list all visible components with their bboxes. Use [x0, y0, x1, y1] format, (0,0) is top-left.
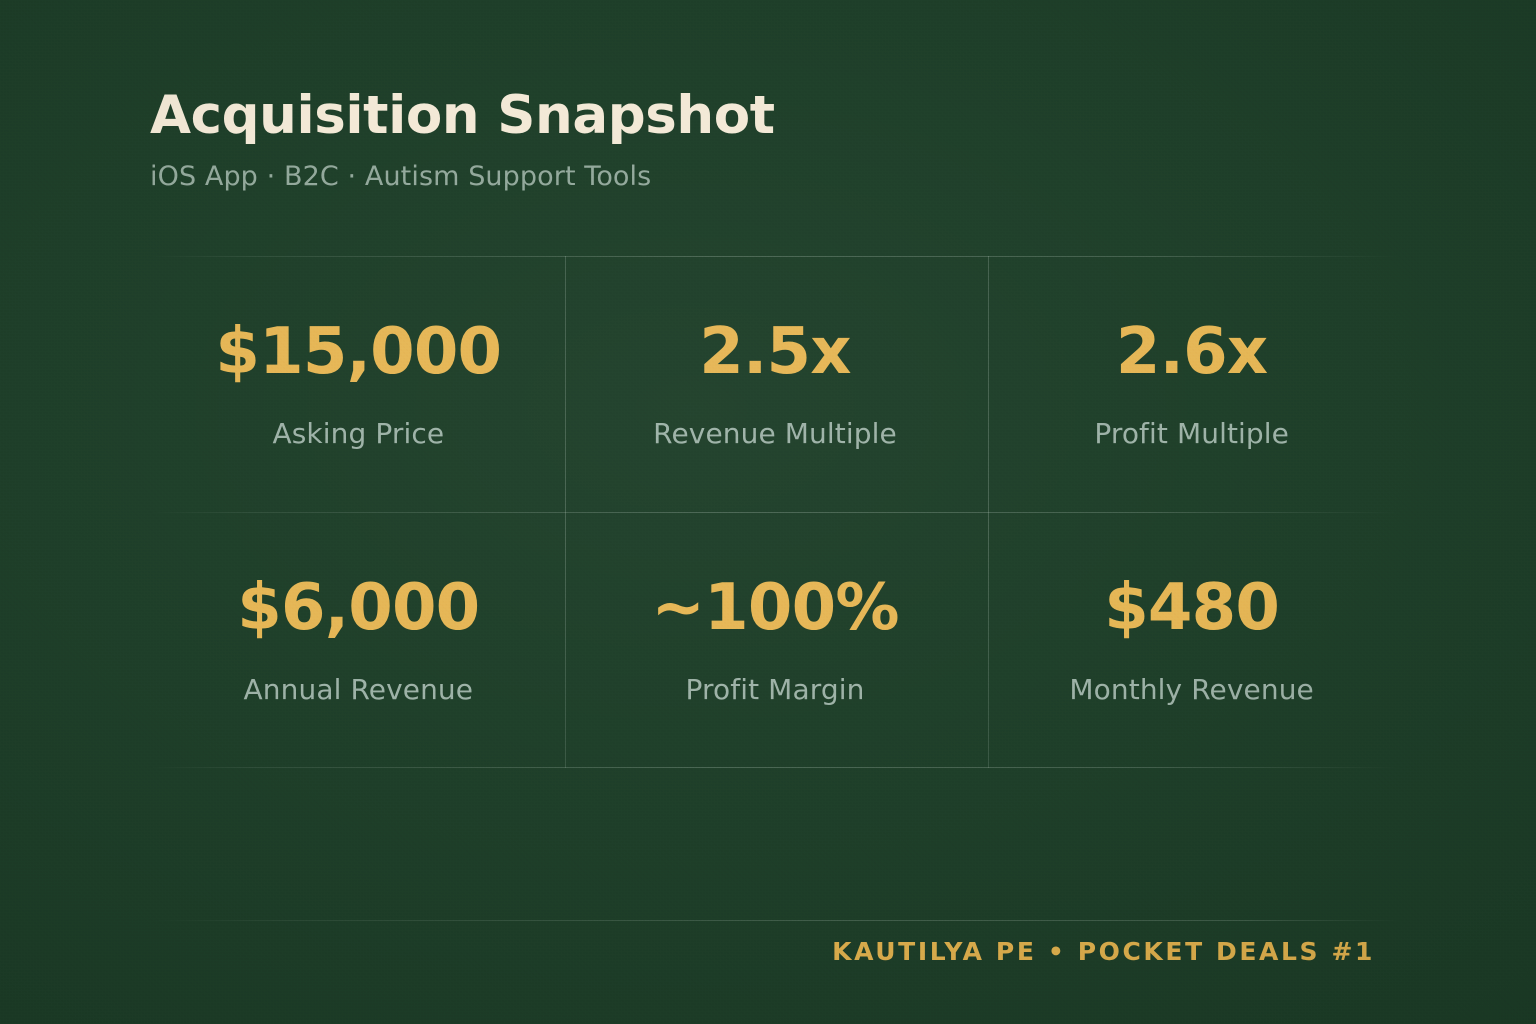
metric-label: Profit Margin [686, 676, 865, 704]
metric-cell-profit-margin: ~100% Profit Margin [567, 512, 984, 768]
footer-brand: KAUTILYA PE • POCKET DEALS #1 [832, 937, 1375, 966]
metric-cell-profit-multiple: 2.6x Profit Multiple [983, 256, 1400, 512]
metric-value: $6,000 [237, 576, 479, 640]
page-title: Acquisition Snapshot [150, 88, 1400, 144]
metric-value: ~100% [651, 576, 898, 640]
metric-value: $15,000 [215, 320, 501, 384]
metric-value: 2.5x [699, 320, 850, 384]
metric-value: $480 [1104, 576, 1279, 640]
metric-label: Revenue Multiple [653, 420, 897, 448]
metric-label: Profit Multiple [1094, 420, 1289, 448]
metric-cell-revenue-multiple: 2.5x Revenue Multiple [567, 256, 984, 512]
metric-label: Monthly Revenue [1069, 676, 1313, 704]
metric-grid: $15,000 Asking Price 2.5x Revenue Multip… [150, 256, 1400, 768]
metric-value: 2.6x [1116, 320, 1267, 384]
infographic-card: Acquisition Snapshot iOS App · B2C · Aut… [0, 0, 1536, 1024]
header-block: Acquisition Snapshot iOS App · B2C · Aut… [150, 88, 1400, 192]
page-subtitle: iOS App · B2C · Autism Support Tools [150, 162, 1400, 192]
metric-cell-monthly-revenue: $480 Monthly Revenue [983, 512, 1400, 768]
metric-label: Annual Revenue [244, 676, 474, 704]
metric-cell-asking-price: $15,000 Asking Price [150, 256, 567, 512]
metric-cell-annual-revenue: $6,000 Annual Revenue [150, 512, 567, 768]
footer-divider [150, 920, 1400, 921]
metric-label: Asking Price [272, 420, 444, 448]
